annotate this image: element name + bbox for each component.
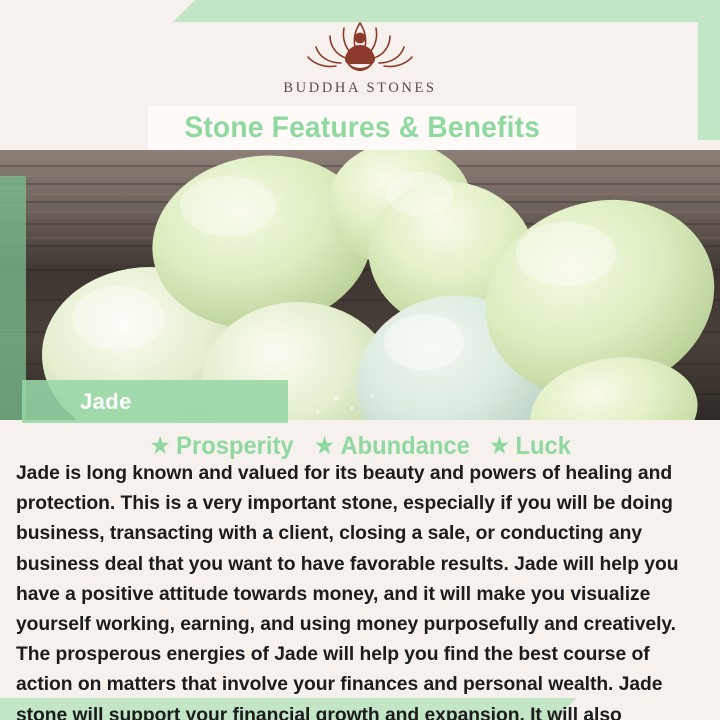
keyword-label: Abundance	[341, 432, 470, 461]
keyword-luck: ★ Luck	[490, 432, 571, 461]
keyword-prosperity: ★ Prosperity	[151, 432, 294, 461]
brand-name: BUDDHA STONES	[283, 80, 436, 97]
stone-name: Jade	[80, 389, 132, 415]
lotus-meditation-figure-icon	[294, 16, 426, 78]
stone-name-band: Jade	[22, 380, 288, 423]
infographic-page: BUDDHA STONES Stone Features & Benefits	[0, 0, 720, 720]
keyword-label: Luck	[516, 432, 571, 461]
keyword-label: Prosperity	[176, 432, 293, 461]
keyword-abundance: ★ Abundance	[315, 432, 470, 461]
brand-logo: BUDDHA STONES	[0, 16, 720, 106]
page-title: Stone Features & Benefits	[184, 111, 540, 145]
stone-description: Jade is long known and valued for its be…	[16, 458, 694, 720]
star-icon: ★	[490, 435, 509, 457]
star-icon: ★	[315, 435, 334, 457]
star-icon: ★	[151, 435, 170, 457]
title-banner: Stone Features & Benefits	[148, 106, 576, 150]
